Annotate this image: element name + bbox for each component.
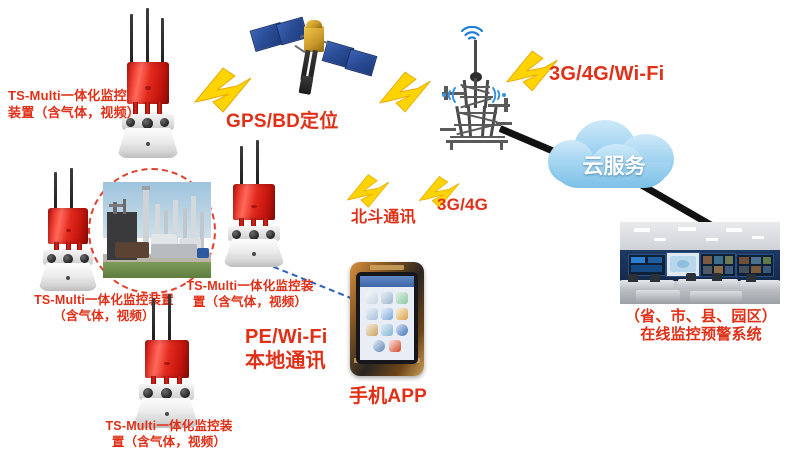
- label-device-bottom: TS-Multi一体化监控装 置（含气体，视频）: [58, 418, 280, 450]
- sensor-port: [143, 388, 153, 398]
- monitoring-device-bottom[interactable]: [126, 294, 210, 422]
- app-icon[interactable]: [366, 324, 378, 336]
- base-indicator: [146, 142, 150, 146]
- diagram-canvas: TS-Multi一体化监控 装置（含气体，视频） TS-Multi一体化监控装置…: [0, 0, 797, 464]
- label-device-top: TS-Multi一体化监控 装置（含气体，视频）: [8, 88, 140, 121]
- cloud-label: 云服务: [544, 150, 684, 180]
- phone-statusbar: [360, 276, 414, 287]
- sensor-port: [266, 230, 275, 239]
- handheld-terminal[interactable]: [350, 262, 424, 376]
- device-body: [48, 208, 88, 244]
- app-icon[interactable]: [366, 292, 378, 304]
- label-phone-app: 手机APP: [340, 385, 436, 409]
- label-control-room: （省、市、县、园区） 在线监控预警系统: [608, 308, 794, 345]
- device-body: [145, 340, 189, 378]
- antenna: [256, 140, 259, 190]
- sensor-port: [180, 388, 190, 398]
- app-icon[interactable]: [396, 324, 408, 336]
- sensor-port: [80, 254, 89, 263]
- app-icon[interactable]: [396, 308, 408, 320]
- app-icon[interactable]: [396, 292, 408, 304]
- control-room-photo: [620, 222, 780, 304]
- sensor-port: [142, 118, 153, 129]
- monitoring-device-top[interactable]: [108, 8, 190, 160]
- sensor-port: [249, 230, 259, 240]
- label-pe-wifi: PE/Wi-Fi 本地通讯: [245, 326, 328, 373]
- sensor-port: [161, 388, 172, 399]
- sensor-port: [47, 254, 56, 263]
- app-icon[interactable]: [381, 308, 393, 320]
- satellite-icon: [248, 8, 376, 108]
- monitoring-device-middle[interactable]: [216, 140, 296, 264]
- industrial-plant-photo: [103, 182, 211, 278]
- app-icon[interactable]: [366, 308, 378, 320]
- tower-signal-left-icon: [438, 86, 458, 104]
- app-icon[interactable]: [389, 340, 401, 352]
- label-beidou: 北斗通讯: [351, 208, 416, 228]
- cloud-service-node[interactable]: 云服务: [544, 118, 684, 194]
- base-indicator: [165, 412, 169, 416]
- bolt-satellite-to-tower: [378, 66, 434, 118]
- app-icon[interactable]: [381, 324, 393, 336]
- wifi-signal-icon: [459, 26, 485, 44]
- phone-screen[interactable]: [360, 276, 414, 360]
- antenna: [152, 298, 155, 344]
- base-indicator: [252, 252, 256, 256]
- app-icon[interactable]: [381, 292, 393, 304]
- label-gps: GPS/BD定位: [226, 110, 338, 134]
- label-3g4g: 3G/4G: [437, 194, 488, 216]
- sensor-port: [160, 118, 169, 127]
- app-icon[interactable]: [373, 340, 385, 352]
- sensor-port: [232, 230, 241, 239]
- device-body: [233, 184, 275, 220]
- base-indicator: [66, 276, 70, 280]
- sensor-port: [63, 254, 73, 264]
- antenna: [168, 294, 171, 344]
- label-3g4g-wifi: 3G/4G/Wi-Fi: [549, 62, 664, 88]
